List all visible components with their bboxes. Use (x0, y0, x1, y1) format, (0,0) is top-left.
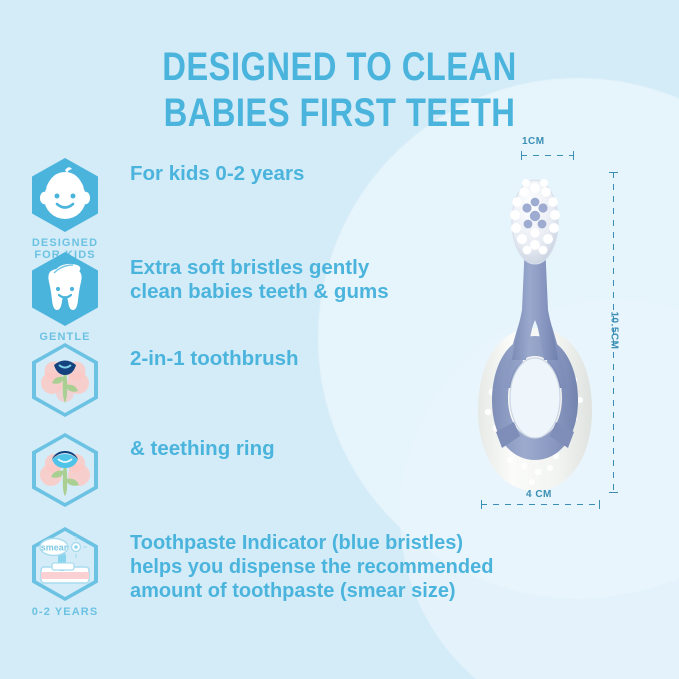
badge-label-age-range: 0-2 YEARS (32, 606, 99, 618)
page-title-line-1: DESIGNED TO CLEAN (61, 44, 618, 90)
measure-cap-top (609, 172, 618, 173)
measure-cap-right-base (599, 500, 600, 509)
badge-toothpaste-indicator: smear 0-2 YEARS (0, 527, 130, 618)
page-title-line-2: BABIES FIRST TEETH (61, 90, 618, 136)
badge-designed-for-kids: DESIGNED FOR KIDS (0, 158, 130, 261)
feature-text-toothbrush: 2-in-1 toothbrush (130, 343, 299, 371)
badge-teething-ring (0, 433, 130, 507)
feature-text-toothpaste-indicator: Toothpaste Indicator (blue bristles) hel… (130, 527, 493, 603)
cotton-bristles-icon (32, 343, 98, 417)
baby-face-icon (32, 158, 98, 232)
badge-toothbrush (0, 343, 130, 417)
product-image-toothbrush (470, 160, 600, 500)
measure-line-base-width (481, 504, 599, 505)
feature-row-gentle: GENTLE Extra soft bristles gently clean … (0, 252, 389, 343)
cotton-flower-icon (32, 433, 98, 507)
badge-label-gentle: GENTLE (39, 331, 90, 343)
feature-text-gentle: Extra soft bristles gently clean babies … (130, 252, 389, 304)
measure-cap-right (573, 151, 574, 160)
feature-row-teething-ring: & teething ring (0, 433, 275, 507)
svg-text:smear: smear (41, 543, 68, 553)
measurement-label-base-width: 4 CM (526, 489, 552, 500)
smear-toothpaste-icon: smear (32, 527, 98, 601)
measure-cap-bottom (609, 492, 618, 493)
measure-cap-left-base (481, 500, 482, 509)
feature-row-toothbrush: 2-in-1 toothbrush (0, 343, 299, 417)
measurement-label-total-height: 10.5CM (609, 309, 620, 353)
feature-row-toothpaste-indicator: smear 0-2 YEARS Toothpaste Indicator (bl… (0, 527, 493, 618)
badge-gentle: GENTLE (0, 252, 130, 343)
feature-text-designed-for-kids: For kids 0-2 years (130, 158, 304, 186)
measure-cap-left (521, 151, 522, 160)
measure-line-head-width (521, 155, 573, 156)
feature-text-teething-ring: & teething ring (130, 433, 275, 461)
page-title: DESIGNED TO CLEAN BABIES FIRST TEETH (61, 44, 618, 136)
measurement-label-head-width: 1CM (522, 136, 545, 147)
infographic-canvas: DESIGNED TO CLEAN BABIES FIRST TEETH (0, 0, 679, 679)
tooth-feather-icon (32, 252, 98, 326)
feature-row-designed-for-kids: DESIGNED FOR KIDS For kids 0-2 years (0, 158, 304, 261)
